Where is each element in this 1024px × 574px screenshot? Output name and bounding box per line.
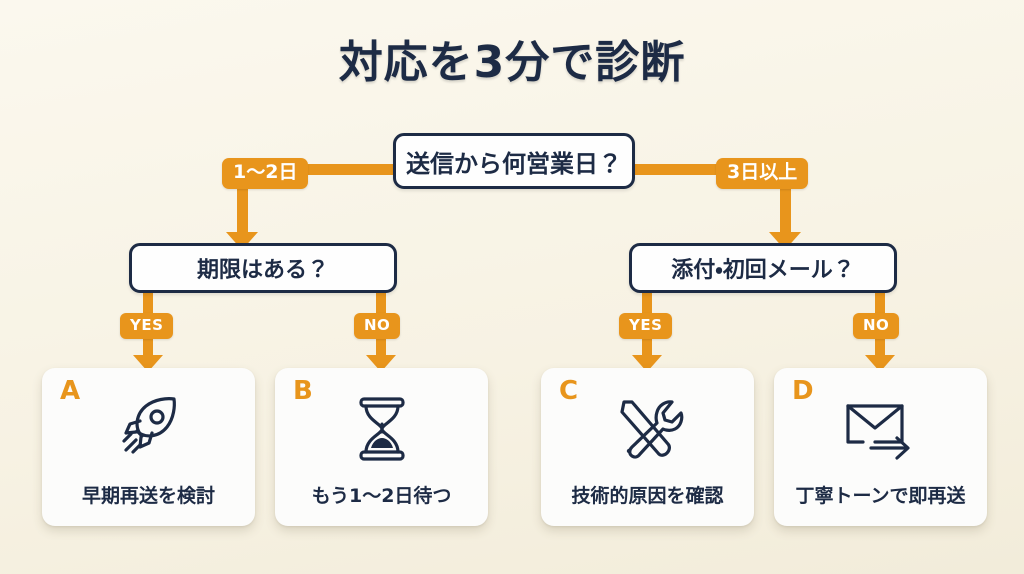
outcome-card-c[interactable]: C 技術的原因を確認 <box>541 368 754 526</box>
diagram-canvas: 対応を3分で診断 1〜2日 3日以上 送信から何営業日？ 期限はある？ 添付・初… <box>0 0 1024 574</box>
card-label-a: 早期再送を検討 <box>42 481 255 508</box>
card-label-b: もう1〜2日待つ <box>275 481 488 508</box>
edge-label-left-no: NO <box>354 313 400 339</box>
decision-node-left[interactable]: 期限はある？ <box>129 243 397 293</box>
mail-send-icon <box>774 390 987 468</box>
outcome-card-a[interactable]: A 早期再送を検討 <box>42 368 255 526</box>
outcome-card-b[interactable]: B もう1〜2日待つ <box>275 368 488 526</box>
branch-label-right: 3日以上 <box>716 158 808 189</box>
branch-label-left: 1〜2日 <box>222 158 308 189</box>
tools-icon <box>541 390 754 468</box>
edge-label-left-yes: YES <box>120 313 173 339</box>
hourglass-icon <box>275 390 488 468</box>
edge-label-right-no: NO <box>853 313 899 339</box>
decision-node-root[interactable]: 送信から何営業日？ <box>393 133 635 189</box>
rocket-icon <box>42 390 255 468</box>
outcome-card-d[interactable]: D 丁寧トーンで即再送 <box>774 368 987 526</box>
decision-node-right[interactable]: 添付・初回メール？ <box>629 243 897 293</box>
page-title: 対応を3分で診断 <box>0 26 1024 90</box>
card-label-d: 丁寧トーンで即再送 <box>774 481 987 508</box>
edge-label-right-yes: YES <box>619 313 672 339</box>
card-label-c: 技術的原因を確認 <box>541 481 754 508</box>
